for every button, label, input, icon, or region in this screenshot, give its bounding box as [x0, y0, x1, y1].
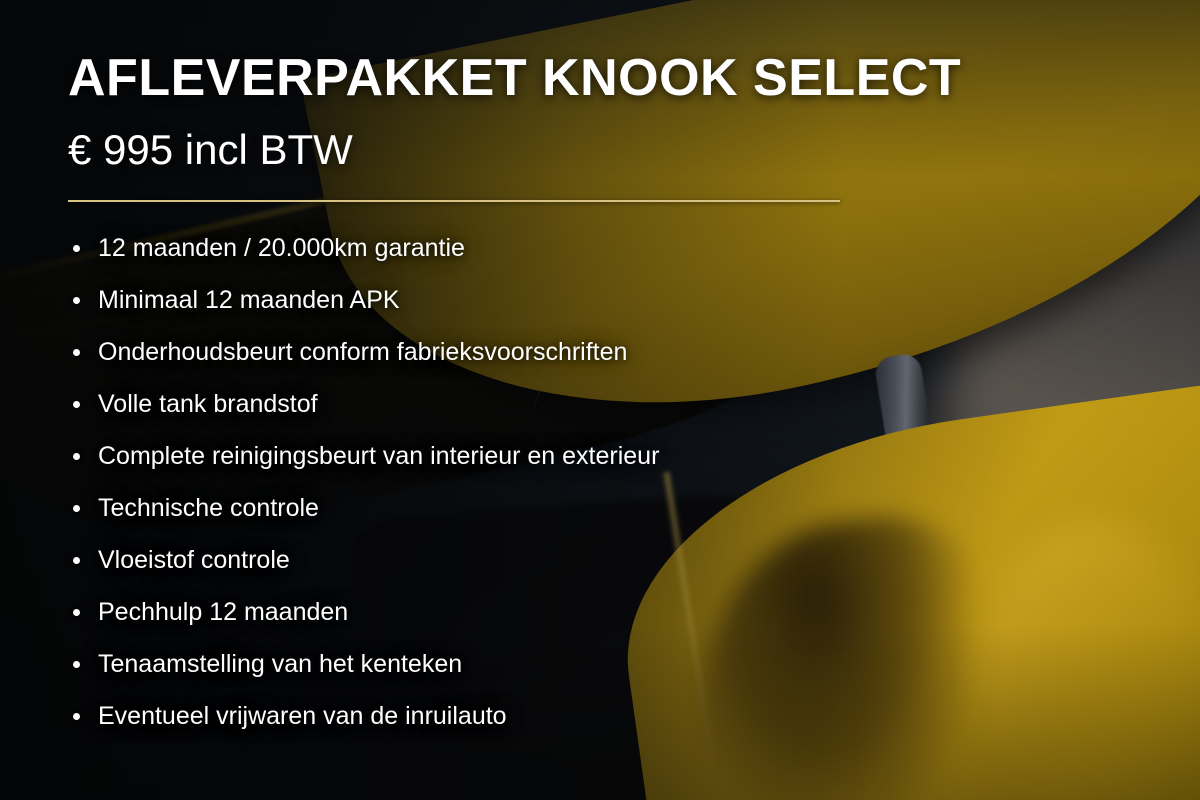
bullet-dot-icon — [73, 609, 80, 616]
bullet-dot-icon — [73, 297, 80, 304]
bullet-dot-icon — [73, 349, 80, 356]
feature-item-label: Eventueel vrijwaren van de inruilauto — [98, 702, 507, 730]
feature-item: Volle tank brandstof — [68, 378, 659, 430]
feature-item-label: Pechhulp 12 maanden — [98, 598, 348, 626]
feature-item: Minimaal 12 maanden APK — [68, 274, 659, 326]
feature-list: 12 maanden / 20.000km garantieMinimaal 1… — [68, 222, 659, 742]
feature-item: Pechhulp 12 maanden — [68, 586, 659, 638]
feature-item-label: Tenaamstelling van het kenteken — [98, 650, 462, 678]
title-divider — [68, 200, 840, 202]
feature-item-label: Volle tank brandstof — [98, 390, 318, 418]
bullet-dot-icon — [73, 713, 80, 720]
feature-item: Vloeistof controle — [68, 534, 659, 586]
feature-item: Technische controle — [68, 482, 659, 534]
feature-item: 12 maanden / 20.000km garantie — [68, 222, 659, 274]
bullet-dot-icon — [73, 401, 80, 408]
feature-item: Complete reinigingsbeurt van interieur e… — [68, 430, 659, 482]
price-subtitle: € 995 incl BTW — [68, 126, 353, 174]
feature-item-label: Minimaal 12 maanden APK — [98, 286, 400, 314]
bullet-dot-icon — [73, 661, 80, 668]
bullet-dot-icon — [73, 505, 80, 512]
promo-slide: AFLEVERPAKKET KNOOK SELECT € 995 incl BT… — [0, 0, 1200, 800]
feature-item-label: 12 maanden / 20.000km garantie — [98, 234, 465, 262]
feature-item-label: Onderhoudsbeurt conform fabrieksvoorschr… — [98, 338, 627, 366]
feature-item-label: Vloeistof controle — [98, 546, 290, 574]
bullet-dot-icon — [73, 557, 80, 564]
page-title: AFLEVERPAKKET KNOOK SELECT — [68, 48, 961, 108]
feature-item-label: Technische controle — [98, 494, 319, 522]
content-overlay: AFLEVERPAKKET KNOOK SELECT € 995 incl BT… — [0, 0, 1200, 800]
feature-item: Tenaamstelling van het kenteken — [68, 638, 659, 690]
feature-item-label: Complete reinigingsbeurt van interieur e… — [98, 442, 659, 470]
bullet-dot-icon — [73, 245, 80, 252]
feature-item: Onderhoudsbeurt conform fabrieksvoorschr… — [68, 326, 659, 378]
bullet-dot-icon — [73, 453, 80, 460]
feature-item: Eventueel vrijwaren van de inruilauto — [68, 690, 659, 742]
